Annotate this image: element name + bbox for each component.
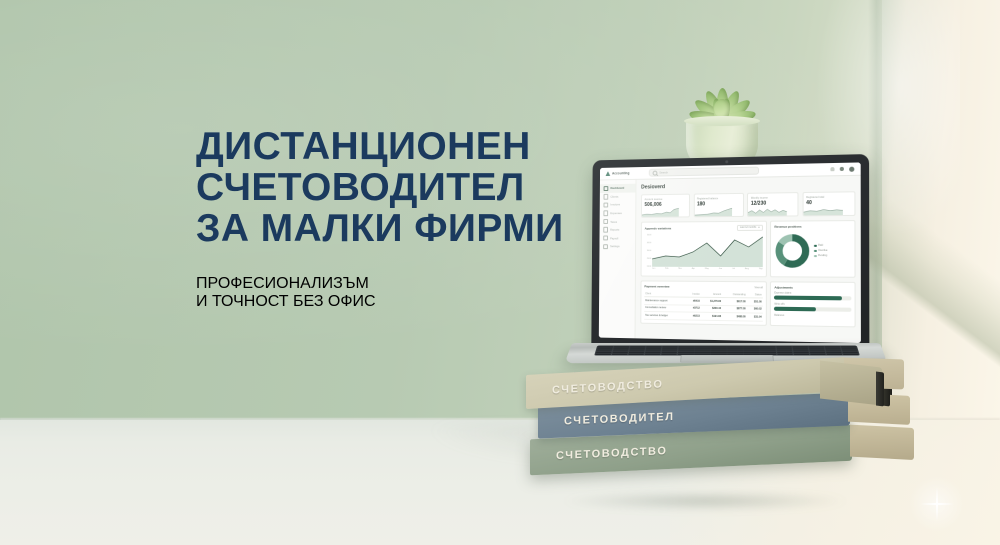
laptop: Accounting Search <box>572 157 880 382</box>
headline-line-2: СЧЕТОВОДИТЕЛ <box>196 167 596 208</box>
cell-amount: $191.08 <box>701 312 722 320</box>
legend-item: Pending <box>814 254 827 257</box>
book-top-edge <box>876 372 884 407</box>
y-tick: 5000 <box>645 235 653 237</box>
cell-client: Tax services & ledger <box>644 312 685 320</box>
x-tick: Jul <box>732 268 735 270</box>
y-tick: 1000 <box>644 266 652 268</box>
bars-footer: Balances <box>774 314 851 318</box>
progress-row: Write-offs <box>774 303 851 312</box>
charts-row: Appends variations Last 12 months <box>641 220 856 278</box>
percent-icon <box>603 219 608 224</box>
sidebar-item-settings[interactable]: Settings <box>599 242 635 250</box>
kpi-card[interactable]: Registered balance 180 <box>693 193 743 217</box>
area-series <box>652 233 763 267</box>
search-placeholder: Search <box>659 170 668 174</box>
chart-icon <box>603 227 608 232</box>
legend-label: Pending <box>818 254 827 257</box>
brand-name: Accounting <box>612 171 629 175</box>
book-title: СЧЕТОВОДИТЕЛ <box>564 410 675 427</box>
card-title: Appends variations <box>645 226 672 230</box>
plot-area: Jan Feb Mar Apr May Jun Jul Aug <box>652 233 763 273</box>
page-title: ДИСТАНЦИОНЕН СЧЕТОВОДИТЕЛ ЗА МАЛКИ ФИРМИ <box>196 126 596 249</box>
progress-fill <box>774 307 815 311</box>
kpi-card[interactable]: Account revenue 506,006 <box>641 194 690 218</box>
sparkline-chart <box>642 207 679 216</box>
progress-fill <box>774 296 842 300</box>
table-row[interactable]: Tax services & ledger #9213 $191.08 $488… <box>644 312 763 321</box>
sidebar-item-label: Dashboard <box>610 186 624 190</box>
sidebar-item-label: Reports <box>610 228 619 232</box>
card-title: Revenue positions <box>774 224 801 228</box>
bell-icon[interactable] <box>830 167 834 171</box>
kpi-label: Registered balance <box>697 197 740 201</box>
kpi-row: Account revenue 506,006 Registered balan… <box>641 191 856 217</box>
legend-swatch <box>814 244 816 246</box>
card-header: Adjustments <box>774 286 851 291</box>
x-tick: Jan <box>652 268 655 270</box>
cell-status: $31.04 <box>747 313 763 321</box>
x-tick: May <box>705 268 709 270</box>
kpi-label: Weekly income <box>751 196 795 200</box>
gear-icon <box>603 244 608 249</box>
period-select-value: Last 12 months <box>740 226 756 229</box>
card-header: Payment overview View all <box>644 285 762 290</box>
avatar[interactable] <box>849 166 854 171</box>
x-tick: Jun <box>719 268 722 270</box>
grid-icon <box>604 186 609 191</box>
legend-label: Paid <box>818 244 823 247</box>
sidebar-item-taxes[interactable]: Taxes <box>600 217 636 226</box>
revenue-chart-card: Appends variations Last 12 months <box>641 220 767 277</box>
payments-table: Client Invoice Amount Outstanding Status <box>644 290 763 321</box>
donut-chart-card: Revenue positions <box>770 220 855 278</box>
cell-invoice: #9213 <box>685 312 700 320</box>
kpi-card[interactable]: Weekly income 12/230 <box>747 192 799 216</box>
book-title: СЧЕТОВОДСТВО <box>552 378 663 396</box>
donut-chart: Paid Overdue <box>774 230 851 271</box>
sparkline-chart <box>803 205 843 215</box>
kpi-label: Registered total <box>806 195 852 199</box>
cell-status: $51.00 <box>747 298 763 306</box>
sidebar-item-label: Expenses <box>610 211 622 215</box>
card-icon <box>603 236 608 241</box>
legend-item: Paid <box>814 244 827 247</box>
x-axis: Jan Feb Mar Apr May Jun Jul Aug <box>652 267 763 270</box>
succulent-plant <box>672 58 772 170</box>
search-input[interactable]: Search <box>649 167 759 177</box>
bottom-row: Payment overview View all Client Invoice <box>640 281 855 328</box>
x-tick: Feb <box>665 268 668 270</box>
sparkline-chart <box>694 207 732 216</box>
cell-outstanding: $488.00 <box>722 313 747 321</box>
sidebar-item-reports[interactable]: Reports <box>600 226 636 235</box>
sidebar-item-label: Clients <box>610 195 618 199</box>
y-tick: 4000 <box>645 242 653 244</box>
logo-mark-icon <box>606 171 611 176</box>
document-icon <box>603 202 608 207</box>
subhead-line-2: И ТОЧНОСТ БЕЗ ОФИС <box>196 293 596 311</box>
x-tick: Apr <box>692 268 695 270</box>
kpi-label: Account revenue <box>644 197 686 201</box>
sparkle-icon <box>920 487 954 521</box>
search-icon <box>653 170 658 175</box>
sidebar-item-label: Taxes <box>610 220 617 224</box>
topbar-actions <box>830 166 854 172</box>
progress-label: Expense claims <box>774 292 851 296</box>
dashboard-app: Accounting Search <box>599 162 861 343</box>
book-pages <box>850 425 914 460</box>
view-all-link[interactable]: View all <box>754 286 762 289</box>
x-tick: Aug <box>745 268 749 270</box>
x-tick: Mar <box>678 268 681 270</box>
legend-label: Overdue <box>818 249 827 252</box>
wallet-icon <box>603 211 608 216</box>
pot-rim <box>684 116 760 126</box>
sidebar-item-label: Payroll <box>610 236 618 240</box>
legend-swatch <box>814 249 816 251</box>
app-logo[interactable]: Accounting <box>606 170 644 176</box>
x-tick: Sep <box>759 268 763 270</box>
book-title: СЧЕТОВОДСТВО <box>556 445 667 462</box>
period-select[interactable]: Last 12 months <box>737 224 763 231</box>
webcam-icon <box>725 160 728 163</box>
book-top-cover <box>820 360 882 405</box>
donut-series <box>774 232 811 269</box>
laptop-screen: Accounting Search <box>599 162 861 343</box>
app-body: Dashboard Clients Invoices <box>599 176 861 343</box>
card-header: Revenue positions <box>774 224 851 229</box>
y-tick: 3000 <box>645 250 653 252</box>
headline-line-3: ЗА МАЛКИ ФИРМИ <box>196 208 596 249</box>
payments-table-card: Payment overview View all Client Invoice <box>640 281 766 326</box>
chart-legend: Paid Overdue <box>814 244 827 257</box>
progress-bars: Expense claims Write-offs <box>774 292 851 319</box>
sparkline-chart <box>748 206 787 215</box>
legend-swatch <box>814 255 816 257</box>
main-content: Desioverd Account revenue 506,006 <box>635 176 860 343</box>
progress-row: Expense claims <box>774 292 851 301</box>
kpi-card[interactable]: Registered total 40 <box>802 191 855 216</box>
card-title: Adjustments <box>774 286 793 290</box>
card-title: Payment overview <box>644 285 669 289</box>
laptop-lid: Accounting Search <box>591 154 869 353</box>
adjustments-card: Adjustments Expense claims <box>770 282 855 328</box>
sidebar-item-payroll[interactable]: Payroll <box>600 234 636 242</box>
subhead-line-1: ПРОФЕСИОНАЛИЗЪМ <box>196 275 596 293</box>
y-tick: 2000 <box>645 258 653 260</box>
sidebar-item-label: Invoices <box>610 203 620 207</box>
help-icon[interactable] <box>840 167 844 171</box>
users-icon <box>604 194 609 199</box>
cell-invoice: #8410 <box>685 297 700 305</box>
progress-track <box>774 307 851 312</box>
dashboard-title: Desioverd <box>641 181 855 190</box>
sidebar-item-expenses[interactable]: Expenses <box>600 209 636 218</box>
progress-track <box>774 296 851 301</box>
sidebar-item-label: Settings <box>610 245 619 249</box>
sidebar: Dashboard Clients Invoices <box>599 180 637 339</box>
headline-line-1: ДИСТАНЦИОНЕН <box>196 126 596 167</box>
card-header: Appends variations Last 12 months <box>645 224 763 231</box>
hero-banner: ДИСТАНЦИОНЕН СЧЕТОВОДИТЕЛ ЗА МАЛКИ ФИРМИ… <box>0 0 1000 545</box>
legend-item: Overdue <box>814 249 827 252</box>
area-chart: 5000 4000 3000 2000 1000 <box>644 233 762 273</box>
chevron-down-icon <box>758 227 760 228</box>
book-stack: СЧЕТОВОДСТВО СЧЕТОВОДИТЕЛ СЧЕТОВОДСТВО <box>520 366 920 506</box>
hero-copy: ДИСТАНЦИОНЕН СЧЕТОВОДИТЕЛ ЗА МАЛКИ ФИРМИ… <box>196 126 596 327</box>
